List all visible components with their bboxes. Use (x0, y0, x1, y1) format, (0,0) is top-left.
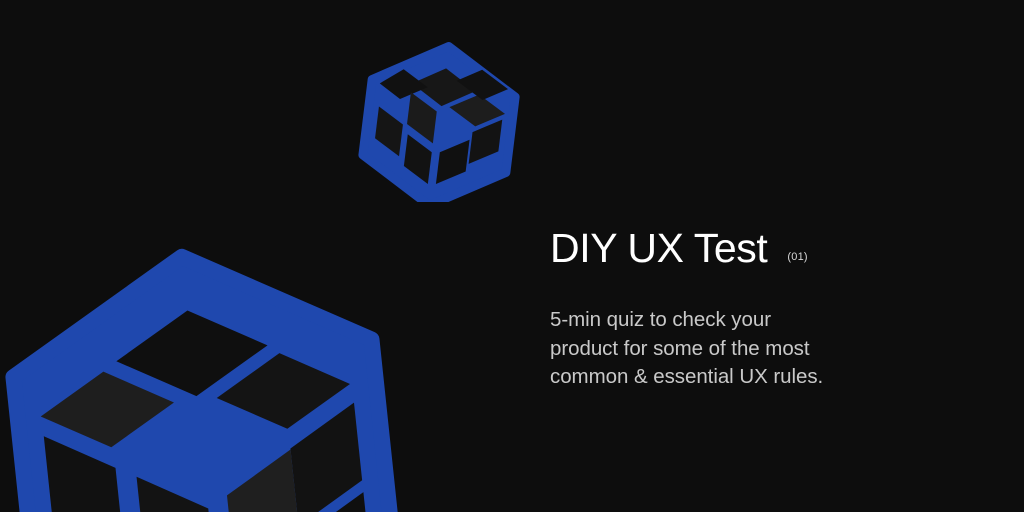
cube-cell-left-lower (137, 470, 217, 512)
cube-cell-top-left (378, 67, 429, 103)
cube-cell-right-lower (223, 450, 303, 512)
cube-cell-top-right (213, 346, 354, 436)
cube-cell-top-right (447, 91, 506, 130)
cube-cell-left-upper (44, 429, 124, 512)
cube-cell-right-upper (469, 116, 503, 167)
cube-cell-left-bottom (402, 134, 434, 184)
cube-cell-top-center (112, 303, 272, 404)
cube-cell-left-lower (373, 106, 405, 156)
cube-body (3, 240, 402, 512)
cube-cell-right-lower (436, 136, 470, 187)
isometric-cube-icon-small (352, 34, 528, 202)
page-subtitle: 5-min quiz to check your product for som… (550, 272, 910, 392)
slide-canvas: DIY UX Test(01) 5-min quiz to check your… (0, 0, 1024, 512)
cube-cell-top-center (410, 64, 478, 110)
page-title: DIY UX Test (550, 224, 767, 272)
cube-cell-left-upper (405, 92, 439, 143)
title-index-badge: (01) (787, 252, 807, 263)
cube-cell-top-upper-right (455, 67, 510, 103)
cube-cell-right-bottom (296, 492, 376, 512)
hero-text-block: DIY UX Test(01) 5-min quiz to check your… (550, 224, 950, 392)
cube-cell-right-upper (286, 403, 366, 512)
cube-body (358, 38, 520, 202)
cube-cell-top-left (37, 365, 178, 455)
isometric-cube-icon-large (2, 240, 432, 512)
